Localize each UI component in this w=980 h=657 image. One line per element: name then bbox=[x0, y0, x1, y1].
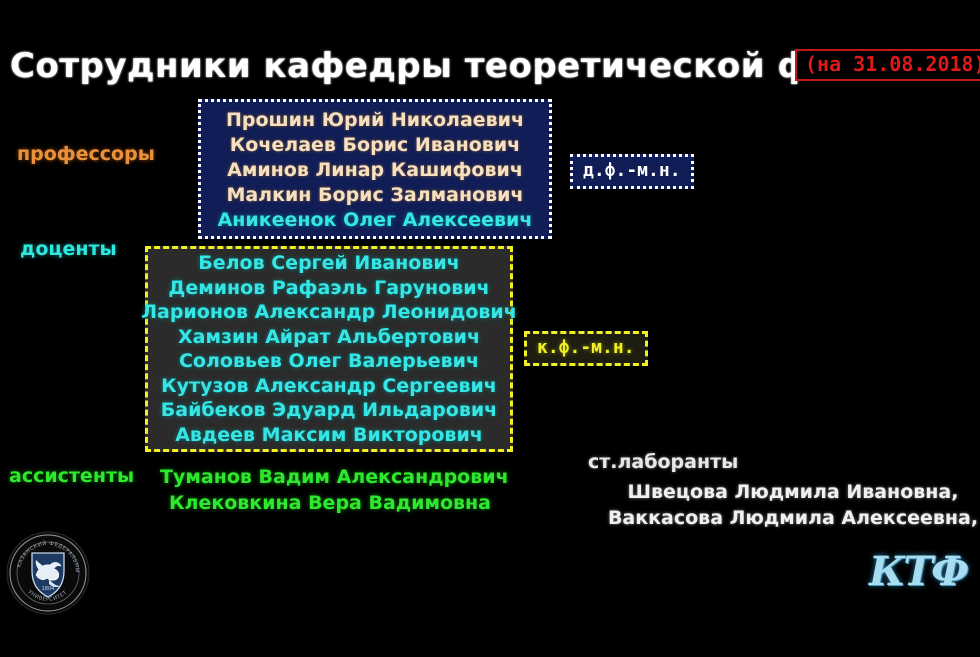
professors-list-box: Прошин Юрий Николаевич Кочелаев Борис Ив… bbox=[198, 99, 552, 239]
department-logo-text: КТФ bbox=[868, 540, 968, 604]
list-item: Соловьев Олег Валерьевич bbox=[179, 349, 479, 374]
list-item: Швецова Людмила Ивановна, bbox=[606, 479, 980, 505]
list-item: Кутузов Александр Сергеевич bbox=[161, 374, 497, 399]
presentation-slide: Сотрудники кафедры теоретической физики … bbox=[0, 0, 980, 657]
title-row: Сотрудники кафедры теоретической физики … bbox=[0, 46, 980, 94]
degree-badge-doctor: д.ф.-м.н. bbox=[570, 154, 694, 189]
list-item: Туманов Вадим Александрович bbox=[160, 464, 500, 490]
svg-text:1804: 1804 bbox=[42, 586, 55, 592]
list-item: Хамзин Айрат Альбертович bbox=[178, 325, 480, 350]
list-item: Байбеков Эдуард Ильдарович bbox=[161, 398, 497, 423]
list-item: Ларионов Александр Леонидович bbox=[141, 300, 517, 325]
department-logo: КТФ bbox=[868, 540, 968, 604]
assistants-list: Туманов Вадим Александрович Клековкина В… bbox=[160, 464, 500, 516]
list-item: Прошин Юрий Николаевич bbox=[226, 108, 524, 133]
lab-assistants-block: ст.лаборанты Швецова Людмила Ивановна, В… bbox=[588, 449, 980, 531]
list-item: Ваккасова Людмила Алексеевна, bbox=[606, 505, 980, 531]
list-item: Деминов Рафаэль Гарунович bbox=[168, 276, 489, 301]
date-badge: (на 31.08.2018) bbox=[795, 49, 980, 81]
list-item: Кочелаев Борис Иванович bbox=[230, 133, 520, 158]
category-label-assistants: ассистенты bbox=[9, 465, 134, 487]
category-label-docents: доценты bbox=[20, 238, 117, 260]
list-item: Белов Сергей Иванович bbox=[198, 251, 459, 276]
page-title: Сотрудники кафедры теоретической физики bbox=[10, 46, 928, 86]
list-item: Аникеенок Олег Алексеевич bbox=[218, 208, 533, 233]
docents-list-box: Белов Сергей Иванович Деминов Рафаэль Га… bbox=[145, 246, 513, 452]
degree-badge-candidate: к.ф.-м.н. bbox=[524, 331, 648, 366]
list-item: Малкин Борис Залманович bbox=[226, 183, 523, 208]
list-item: Авдеев Максим Викторович bbox=[175, 423, 483, 448]
list-item: Аминов Линар Кашифович bbox=[227, 158, 523, 183]
lab-assistants-list: Швецова Людмила Ивановна, Ваккасова Людм… bbox=[588, 479, 980, 531]
list-item: Клековкина Вера Вадимовна bbox=[160, 490, 500, 516]
university-seal-icon: 1804 КАЗАНСКИЙ ФЕДЕРАЛЬНЫЙ УНИВЕРСИТЕТ bbox=[6, 531, 90, 615]
category-label-lab-assistants: ст.лаборанты bbox=[588, 449, 980, 475]
university-seal-logo: 1804 КАЗАНСКИЙ ФЕДЕРАЛЬНЫЙ УНИВЕРСИТЕТ bbox=[6, 531, 90, 615]
category-label-professors: профессоры bbox=[17, 143, 155, 165]
